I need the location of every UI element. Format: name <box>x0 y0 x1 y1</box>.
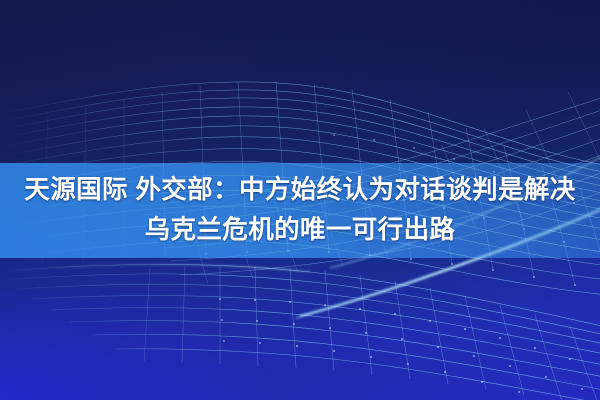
headline-line-2: 乌克兰危机的唯一可行出路 <box>145 210 456 250</box>
headline-text: 天源国际 外交部：中方始终认为对话谈判是解决 乌克兰危机的唯一可行出路 <box>0 160 600 260</box>
headline-line-1: 天源国际 外交部：中方始终认为对话谈判是解决 <box>24 170 575 210</box>
banner-image: 天源国际 外交部：中方始终认为对话谈判是解决 乌克兰危机的唯一可行出路 <box>0 0 600 400</box>
